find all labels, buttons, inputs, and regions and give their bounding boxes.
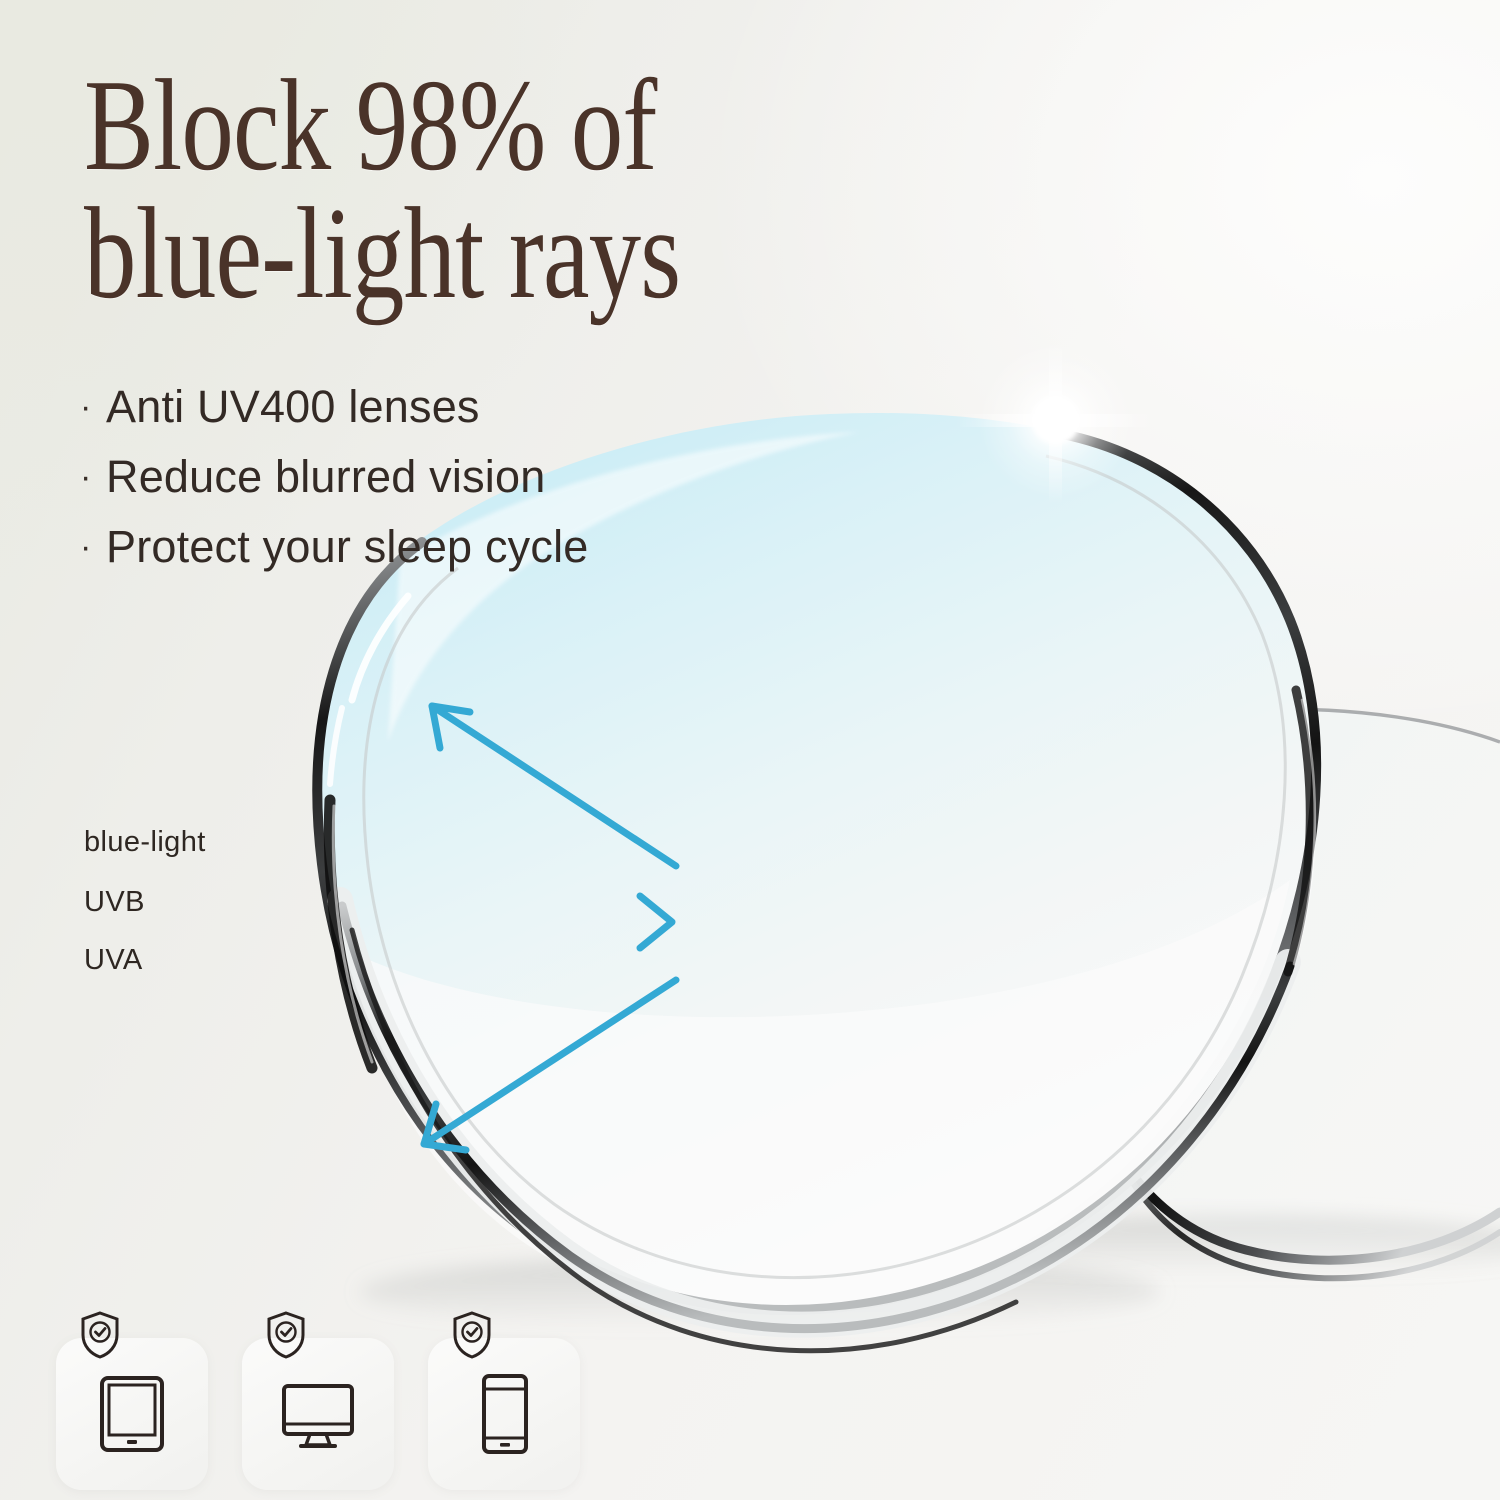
ray-label-uvb: UVB [84,886,145,919]
page-title: Block 98% of blue-light rays [84,62,884,319]
ray-label-blue-light: blue-light [84,826,206,859]
infographic-canvas: Block 98% of blue-light rays · Anti UV40… [0,0,1500,1500]
device-card-smartphone [428,1338,580,1490]
list-item-label: Reduce blurred vision [106,442,545,512]
list-item: · Protect your sleep cycle [80,512,589,582]
ray-label-uva: UVA [84,944,143,977]
protected-devices [56,1338,580,1490]
tablet-icon [93,1372,171,1456]
shield-check-icon [78,1310,122,1360]
device-card-tablet [56,1338,208,1490]
list-item: · Reduce blurred vision [80,442,589,512]
list-item: · Anti UV400 lenses [80,372,589,442]
bullet-marker-icon: · [80,451,106,504]
device-card-monitor [242,1338,394,1490]
smartphone-icon [465,1372,543,1456]
feature-list: · Anti UV400 lenses · Reduce blurred vis… [80,372,589,581]
bullet-marker-icon: · [80,521,106,574]
bullet-marker-icon: · [80,381,106,434]
list-item-label: Anti UV400 lenses [106,372,480,442]
shield-check-icon [264,1310,308,1360]
list-item-label: Protect your sleep cycle [106,512,589,582]
monitor-icon [279,1372,357,1456]
shield-check-icon [450,1310,494,1360]
